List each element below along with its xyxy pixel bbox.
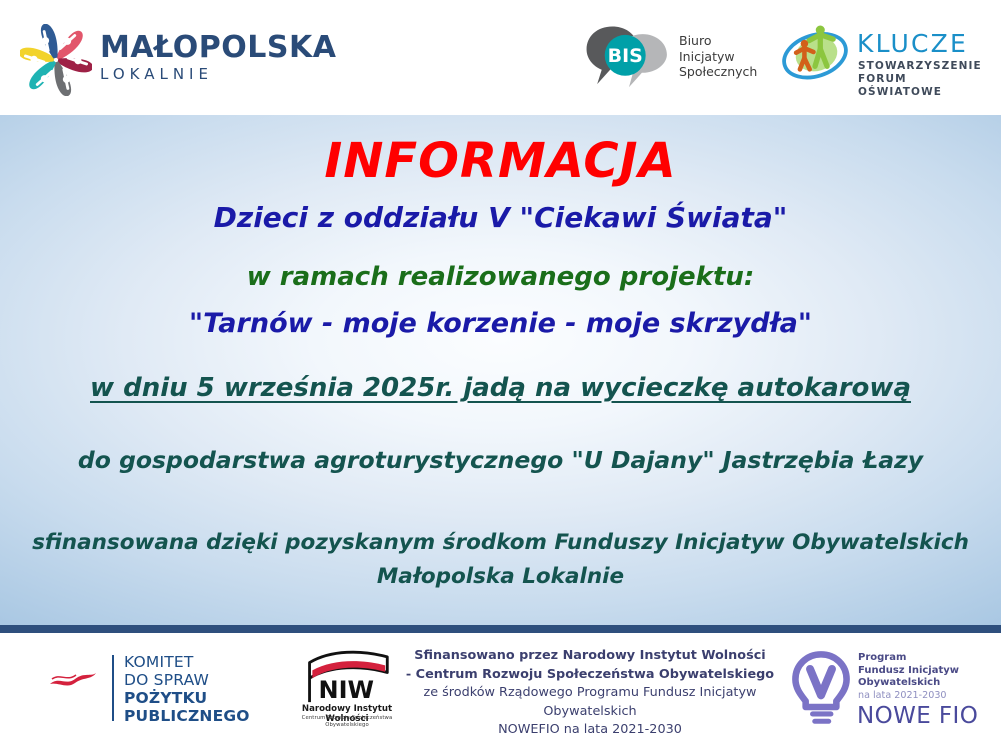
speech-bubbles-bis-icon: BIS — [583, 22, 675, 94]
klucze-people-swoosh-icon — [777, 24, 853, 86]
klucze-logo: KLUCZE STOWARZYSZENIE FORUM OŚWIATOWE — [777, 22, 992, 94]
komitet-line-4: PUBLICZNEGO — [124, 707, 250, 725]
panel-divider-bar — [0, 625, 1001, 633]
announcement-funding-line-2: Małopolska Lokalnie — [0, 564, 1001, 589]
komitet-pozytku-publicznego-logo: KOMITET DO SPRAW POŻYTKU PUBLICZNEGO — [40, 649, 270, 729]
announcement-title: INFORMACJA — [0, 133, 1001, 189]
announcement-trip-date: w dniu 5 września 2025r. jadą na wyciecz… — [0, 373, 1001, 403]
malopolska-lokalnie-logo: MAŁOPOLSKA LOKALNIE — [20, 24, 320, 96]
komitet-line-1: KOMITET — [124, 653, 250, 671]
announcement-project-intro: w ramach realizowanego projektu: — [0, 262, 1001, 292]
fio-line-2: Fundusz Inicjatyw — [858, 665, 959, 678]
niw-logo: NIW Narodowy Instytut Wolności Centrum R… — [288, 647, 406, 731]
niw-flag-icon: NIW — [294, 647, 400, 705]
klucze-subtitle-line-2: FORUM OŚWIATOWE — [858, 73, 992, 99]
svg-text:BIS: BIS — [608, 45, 643, 67]
polish-flag-emblem-icon — [48, 669, 98, 695]
komitet-divider — [112, 655, 114, 721]
klucze-title: KLUCZE — [857, 30, 968, 57]
bis-logo: BIS Biuro Inicjatyw Społecznych — [583, 22, 753, 96]
fio-line-4: na lata 2021-2030 — [858, 690, 947, 702]
fio-program-text: Program Fundusz Inicjatyw Obywatelskich — [858, 652, 959, 690]
fio-wordmark: NOWE FIO — [857, 703, 978, 729]
header-logo-bar: MAŁOPOLSKA LOKALNIE BIS Biuro Inicjatyw … — [0, 0, 1001, 115]
lightbulb-v-nowefio-icon — [788, 650, 854, 726]
announcement-panel: INFORMACJA Dzieci z oddziału V "Ciekawi … — [0, 115, 1001, 625]
announcement-group-line: Dzieci z oddziału V "Ciekawi Świata" — [0, 201, 1001, 234]
nowe-fio-logo: Program Fundusz Inicjatyw Obywatelskich … — [788, 647, 988, 733]
bis-name-text: Biuro Inicjatyw Społecznych — [679, 33, 757, 80]
malopolska-wordmark: MAŁOPOLSKA LOKALNIE — [100, 32, 336, 83]
bis-line-2: Inicjatyw — [679, 49, 757, 65]
komitet-line-3: POŻYTKU — [124, 689, 250, 707]
malopolska-subtitle: LOKALNIE — [100, 65, 336, 83]
komitet-text: KOMITET DO SPRAW POŻYTKU PUBLICZNEGO — [124, 653, 250, 725]
bis-line-1: Biuro — [679, 33, 757, 49]
funding-line-4: NOWEFIO na lata 2021-2030 — [400, 721, 780, 740]
announcement-project-name: "Tarnów - moje korzenie - moje skrzydła" — [0, 308, 1001, 339]
klucze-subtitle-line-1: STOWARZYSZENIE — [858, 60, 992, 73]
funding-line-3: ze środków Rządowego Programu Fundusz In… — [400, 684, 780, 721]
niw-caption-small: Centrum Rozwoju Społeczeństwa Obywatelsk… — [288, 715, 406, 729]
footer-logo-bar: KOMITET DO SPRAW POŻYTKU PUBLICZNEGO NIW… — [0, 633, 1001, 746]
malopolska-title: MAŁOPOLSKA — [100, 32, 336, 64]
fio-line-3: Obywatelskich — [858, 677, 959, 690]
fio-line-1: Program — [858, 652, 959, 665]
announcement-destination: do gospodarstwa agroturystycznego "U Daj… — [0, 446, 1001, 474]
announcement-funding-line-1: sfinansowana dzięki pozyskanym środkom F… — [0, 530, 1001, 555]
funding-line-2: - Centrum Rozwoju Społeczeństwa Obywatel… — [400, 666, 780, 685]
star-pinwheel-people-icon — [20, 24, 92, 96]
bis-line-3: Społecznych — [679, 64, 757, 80]
funding-statement: Sfinansowano przez Narodowy Instytut Wol… — [400, 647, 780, 740]
svg-text:NIW: NIW — [319, 676, 375, 704]
klucze-subtitle: STOWARZYSZENIE FORUM OŚWIATOWE — [858, 60, 992, 99]
komitet-line-2: DO SPRAW — [124, 671, 250, 689]
funding-line-1: Sfinansowano przez Narodowy Instytut Wol… — [400, 647, 780, 666]
